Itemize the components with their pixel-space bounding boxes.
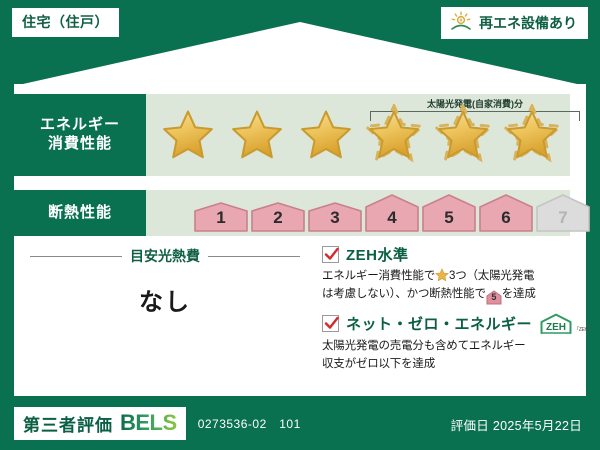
- zeh-text-stars: 3つ（太陽光発電: [449, 270, 534, 282]
- energy-performance-label-block: エネルギー 消費性能: [14, 94, 146, 176]
- insulation-grade-5: 5: [422, 194, 476, 232]
- checkbox-checked-icon: [322, 246, 339, 263]
- divider-right: [208, 256, 300, 257]
- star-filled: [157, 104, 219, 166]
- zeh-text-part1: エネルギー消費性能で: [322, 270, 435, 282]
- insulation-grades-panel: 1234567: [146, 190, 570, 236]
- insulation-grade-scale: 1234567: [194, 194, 590, 232]
- star-glyph: [230, 108, 284, 162]
- star-solar: [501, 104, 563, 166]
- utility-cost-heading-label: 目安光熱費: [130, 246, 200, 266]
- criterion-net-zero-energy-title: ネット・ゼロ・エネルギー: [346, 313, 532, 334]
- star-glyph: [505, 108, 559, 162]
- star-glyph: [299, 108, 353, 162]
- insulation-grade-number: 4: [387, 209, 396, 229]
- insulation-grade-7: 7: [536, 194, 590, 232]
- criterion-zeh-standard-header: ZEH水準: [322, 244, 572, 265]
- insulation-grade-number: 3: [330, 209, 339, 229]
- energy-stars-panel: 太陽光発電(自家消費)分: [146, 94, 570, 176]
- bels-chip: 第三者評価 BELS: [14, 407, 186, 440]
- solar-sun-icon: [449, 11, 473, 34]
- star-solar: [432, 104, 494, 166]
- criterion-zeh-standard: ZEH水準 エネルギー消費性能で 3つ（太陽光発電 は考慮しない）、かつ断熱性能…: [322, 244, 572, 304]
- insulation-grade-1: 1: [194, 202, 248, 232]
- zeh-logo-tm: 「ZEH」: [574, 326, 593, 335]
- insulation-label: 断熱性能: [48, 204, 112, 223]
- evaluation-date: 評価日 2025年5月22日: [451, 415, 582, 434]
- divider-left: [30, 256, 122, 257]
- insulation-grade-number: 5: [444, 209, 453, 229]
- energy-star-rating: [154, 94, 566, 176]
- insulation-grade-number: 1: [216, 209, 225, 229]
- energy-label-line1: エネルギー: [40, 116, 120, 135]
- bels-footer: 第三者評価 BELS 0273536-02 101: [14, 407, 301, 440]
- utility-cost-value: なし: [30, 282, 300, 317]
- renewable-energy-badge: 再エネ設備あり: [441, 7, 588, 39]
- bels-registration-number: 0273536-02 101: [198, 415, 301, 432]
- checkbox-checked-icon: [322, 315, 339, 332]
- building-type-badge: 住宅（住戸）: [12, 8, 119, 37]
- insulation-grade-2: 2: [251, 202, 305, 232]
- insulation-grade-number: 2: [273, 209, 282, 229]
- star-filled: [295, 104, 357, 166]
- insulation-performance-row: 断熱性能 1234567: [14, 190, 570, 236]
- inline-star-icon: [435, 268, 449, 282]
- insulation-grade-4: 4: [365, 194, 419, 232]
- zeh-text-part2: は考慮しない）、かつ断熱性能で: [322, 288, 486, 300]
- zeh-logo: ZEH 「ZEH」: [539, 313, 593, 335]
- energy-label-line2: 消費性能: [48, 135, 112, 154]
- renewable-energy-badge-label: 再エネ設備あり: [479, 13, 577, 33]
- criterion-net-zero-energy-header: ネット・ゼロ・エネルギー ZEH 「ZEH」: [322, 313, 572, 335]
- star-filled: [226, 104, 288, 166]
- inline-house-grade-badge: 5: [486, 290, 502, 304]
- utility-cost-heading: 目安光熱費: [30, 246, 300, 266]
- insulation-grade-number: 7: [558, 209, 567, 229]
- insulation-grade-3: 3: [308, 202, 362, 232]
- svg-text:ZEH: ZEH: [546, 322, 566, 333]
- criterion-net-zero-energy: ネット・ゼロ・エネルギー ZEH 「ZEH」 太陽光発電の売電分も含めてエネルギ…: [322, 313, 572, 374]
- energy-performance-label: 住宅（住戸） 再エネ設備あり 建築物省エネ法に基づく 省エネ性能ラベル: [0, 0, 600, 450]
- star-glyph: [436, 108, 490, 162]
- criterion-zeh-standard-text: エネルギー消費性能で 3つ（太陽光発電 は考慮しない）、かつ断熱性能で 5 を達…: [322, 268, 572, 304]
- inline-house-grade-value: 5: [491, 292, 496, 302]
- criterion-net-zero-energy-text: 太陽光発電の売電分も含めてエネルギー 収支がゼロ以下を達成: [322, 338, 572, 374]
- zeh-text-part3: を達成: [502, 288, 536, 300]
- nze-text-part2: 収支がゼロ以下を達成: [322, 358, 435, 370]
- star-glyph: [367, 108, 421, 162]
- bels-en-label: BELS: [120, 410, 177, 436]
- criteria-list: ZEH水準 エネルギー消費性能で 3つ（太陽光発電 は考慮しない）、かつ断熱性能…: [322, 244, 572, 382]
- insulation-performance-label-block: 断熱性能: [14, 190, 146, 236]
- criterion-zeh-standard-title: ZEH水準: [346, 244, 409, 265]
- energy-performance-row: エネルギー 消費性能 太陽光発電(自家消費)分: [14, 94, 570, 176]
- star-solar: [363, 104, 425, 166]
- nze-text-part1: 太陽光発電の売電分も含めてエネルギー: [322, 340, 525, 352]
- star-glyph: [161, 108, 215, 162]
- insulation-grade-number: 6: [501, 209, 510, 229]
- bels-jp-label: 第三者評価: [23, 411, 113, 436]
- insulation-grade-6: 6: [479, 194, 533, 232]
